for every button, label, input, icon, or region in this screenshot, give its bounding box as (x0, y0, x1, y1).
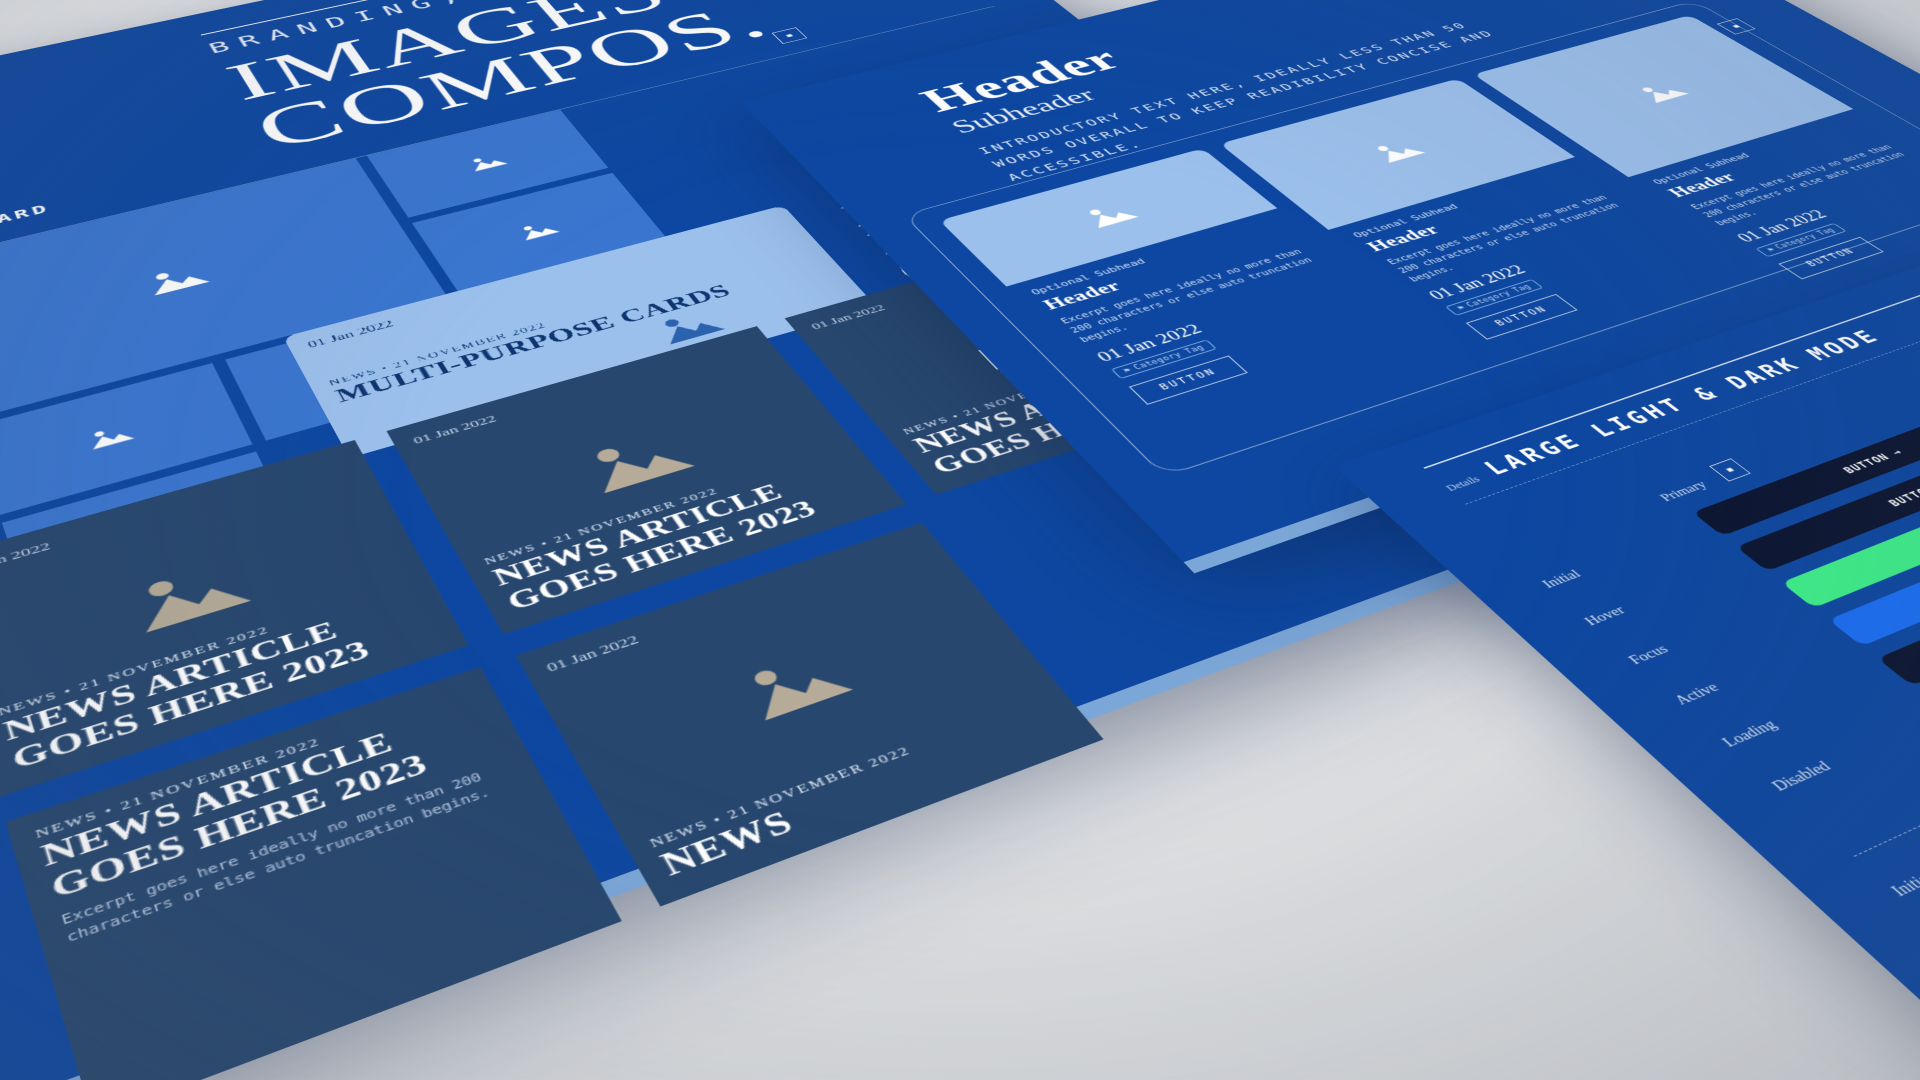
image-placeholder-icon (1368, 138, 1425, 164)
button-label: BUTTON (1840, 452, 1893, 476)
card-subhead: Optional Subhead (1350, 167, 1581, 240)
news-card-title: NEWS ARTICLE GOES HERE 2023 (38, 697, 504, 905)
card-date: 01 Jan 2022 (1425, 220, 1668, 304)
news-card-title: NEWS (655, 705, 1073, 882)
image-placeholder-icon (735, 646, 853, 720)
card-button[interactable]: BUTTON (1466, 294, 1578, 340)
chip-label: Category Tag (1132, 344, 1206, 371)
card-date: 01 Jan 2022 (1093, 276, 1358, 366)
image-placeholder-icon (86, 422, 134, 449)
image-placeholder-icon (1633, 80, 1689, 104)
news-card-kicker: NEWS • 21 NOVEMBER 2022 (647, 694, 1050, 851)
image-placeholder-icon (577, 427, 694, 493)
news-card-title: NEWS ARTICLE GOES HERE 2023 (0, 590, 441, 776)
news-card[interactable]: 01 Jan 2022 NEWS • 21 NOVEMBER 2022 NEWS… (0, 440, 469, 797)
state-label-loading: Loading (1718, 674, 1884, 751)
news-card[interactable]: NEWS • 21 NOVEMBER 2022 NEWS ARTICLE GOE… (6, 667, 622, 1080)
tag-icon: ⚑ (1122, 367, 1134, 375)
card-excerpt: Excerpt goes here ideally no more than 2… (1384, 191, 1642, 285)
news-card-kicker: NEWS • 21 NOVEMBER 2022 (34, 686, 473, 841)
card-subhead: Optional Subhead (1650, 118, 1862, 186)
card-header: Header (1362, 175, 1603, 255)
card-date: 01 Jan 2022 (1733, 168, 1920, 246)
image-placeholder-icon (466, 152, 507, 171)
news-card-title: NEWS ARTICLE GOES HERE 2023 (488, 456, 880, 615)
news-card-excerpt: Excerpt goes here ideally no more than 2… (60, 761, 523, 948)
news-card[interactable]: 01 Jan 2022 NEWS • 21 NOVEMBER 2022 NEWS (516, 523, 1104, 907)
card-button[interactable]: BUTTON (1778, 237, 1884, 280)
image-placeholder-icon (1079, 201, 1138, 229)
arrow-right-icon: → (1888, 447, 1906, 458)
image-placeholder-icon (128, 556, 251, 632)
card-header: Header (1663, 126, 1886, 201)
preview-card[interactable]: Optional Subhead Header Excerpt goes her… (1220, 79, 1785, 386)
card-header: Header (1038, 227, 1299, 313)
category-tag-chip[interactable]: ⚑ Category Tag (1445, 279, 1543, 316)
state-label-initial-2: Initial (1887, 812, 1920, 901)
button-label: BUTTON (1886, 484, 1920, 509)
image-placeholder-icon (145, 262, 209, 295)
buttons-sub-details: Details (1443, 474, 1484, 494)
mockup-stage: BRANDING, RESEAR IMAGES COMPOS. STANDARD… (0, 0, 1920, 1080)
news-card-kicker: NEWS • 21 NOVEMBER 2022 (0, 580, 415, 719)
image-placeholder-icon (516, 219, 559, 240)
news-card-date: 01 Jan 2022 (543, 539, 923, 675)
category-tag-chip[interactable]: ⚑ Category Tag (1111, 340, 1217, 379)
card-subhead: Optional Subhead (1029, 219, 1281, 297)
category-tag-chip[interactable]: ⚑ Category Tag (1755, 223, 1846, 257)
card-excerpt: Excerpt goes here ideally no more than 2… (1688, 141, 1920, 228)
state-label-disabled: Disabled (1768, 714, 1920, 794)
chip-label: Category Tag (1464, 283, 1533, 308)
tag-icon: ⚑ (1765, 246, 1777, 253)
tag-icon: ⚑ (1455, 304, 1467, 311)
card-button[interactable]: BUTTON (1129, 355, 1248, 404)
preview-card[interactable]: Optional Subhead Header Excerpt goes her… (1473, 15, 1920, 292)
chip-label: Category Tag (1773, 227, 1837, 250)
card-image[interactable] (939, 148, 1277, 286)
card-excerpt: Excerpt goes here ideally no more than 2… (1058, 245, 1335, 346)
